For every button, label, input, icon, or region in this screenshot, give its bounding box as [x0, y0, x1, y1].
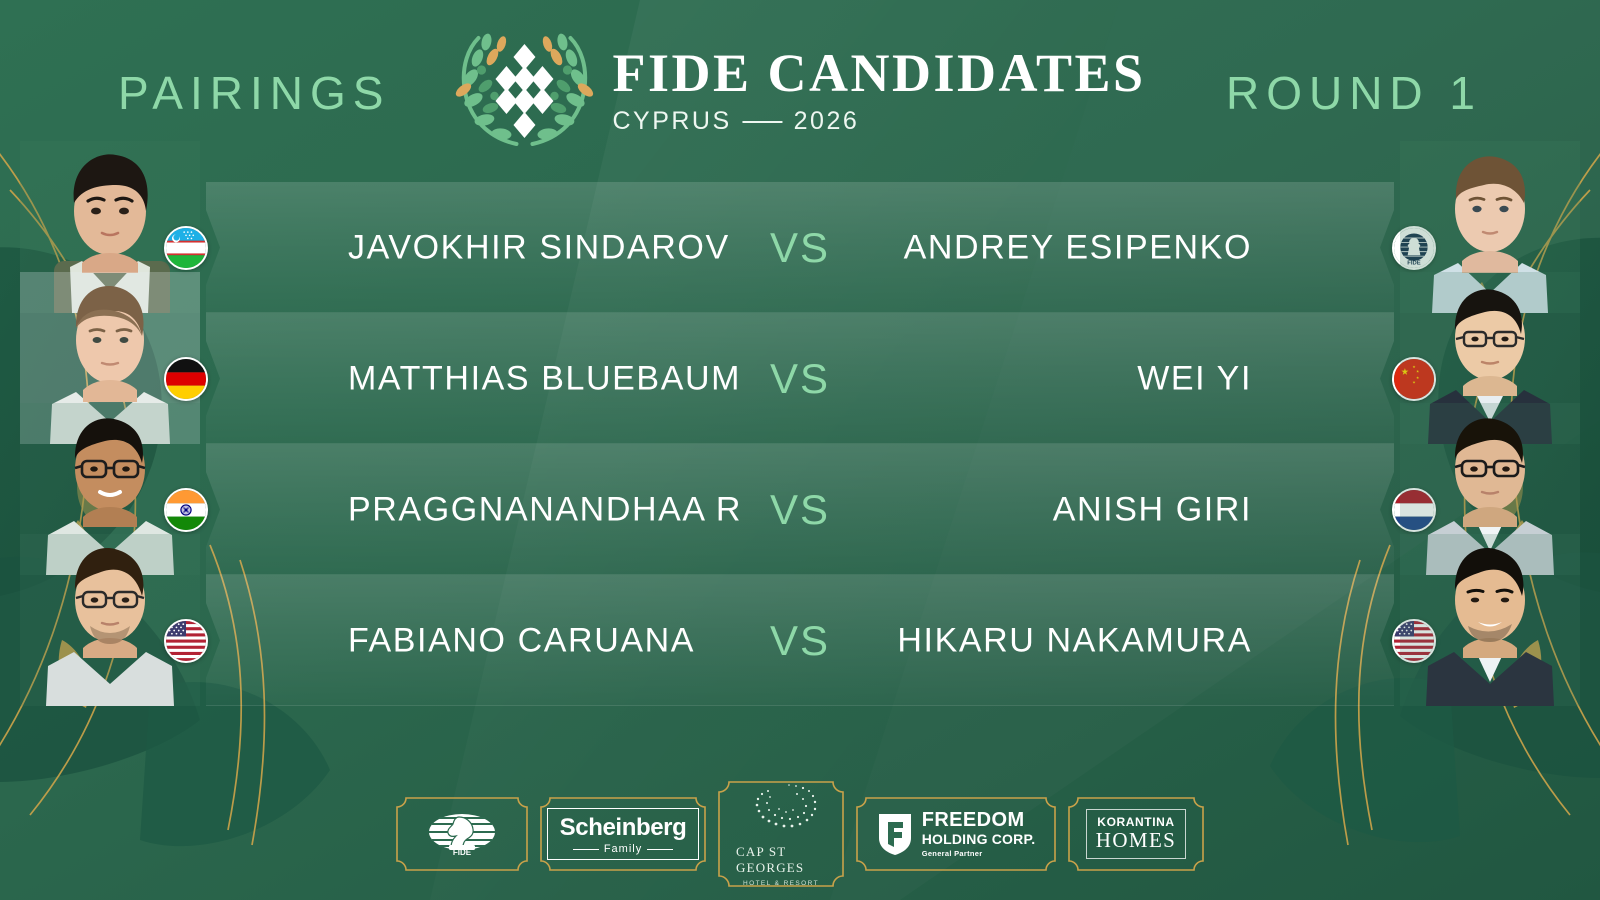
event-subtitle: CYPRUS 2026 [612, 107, 1145, 136]
vs-label: VS [770, 486, 830, 534]
vs-label: VS [770, 355, 830, 403]
sponsor-scheinberg-name: Scheinberg [560, 816, 687, 840]
player-name-black: HIKARU NAKAMURA [897, 621, 1252, 660]
germany-flag-icon [164, 357, 208, 401]
pairing-row[interactable]: JAVOKHIR SINDAROV VS ANDREY ESIPENKO FID… [206, 182, 1394, 313]
pairing-row[interactable]: PRAGGNANANDHAA R VS ANISH GIRI [206, 444, 1394, 575]
header: PAIRINGS [0, 0, 1600, 180]
sponsor-freedom-line1: FREEDOM [922, 810, 1036, 831]
rule-left [573, 849, 599, 850]
pairings-label: PAIRINGS [118, 66, 390, 120]
pairing-row[interactable]: FABIANO CARUANA VS HIKARU NAKAMURA [206, 575, 1394, 706]
sponsor-fide[interactable]: FIDE [396, 797, 528, 871]
player-name-black: ANDREY ESIPENKO [904, 228, 1252, 267]
sponsor-freedom[interactable]: FREEDOM HOLDING CORP. General Partner [856, 797, 1056, 871]
pairings-board: JAVOKHIR SINDAROV VS ANDREY ESIPENKO FID… [0, 182, 1600, 727]
korantina-logo: KORANTINA HOMES [1086, 809, 1187, 858]
player-name-white: MATTHIAS BLUEBAUM [348, 359, 741, 398]
player-name-black: WEI YI [1137, 359, 1252, 398]
dotted-arc-icon [741, 782, 821, 840]
sponsor-freedom-line2: HOLDING CORP. [922, 832, 1036, 847]
sponsor-cap-st-georges[interactable]: CAP ST GEORGES HOTEL & RESORT [718, 781, 844, 887]
sponsor-scheinberg-sub: Family [573, 843, 673, 855]
rule-right [647, 849, 673, 850]
sponsor-scheinberg[interactable]: Scheinberg Family [540, 797, 706, 871]
sponsor-freedom-line3: General Partner [922, 850, 1036, 858]
event-logo-block: FIDE CANDIDATES CYPRUS 2026 [454, 26, 1145, 152]
vs-label: VS [770, 224, 830, 272]
fide-knight-logo-icon: FIDE [425, 811, 499, 857]
freedom-shield-icon [877, 811, 913, 857]
scheinberg-logo: Scheinberg Family [547, 808, 700, 860]
event-year: 2026 [794, 107, 860, 136]
sponsor-bar: FIDE Scheinberg Family [0, 786, 1600, 882]
player-photo-caruana [20, 534, 200, 706]
sponsor-korantina-line2: HOMES [1096, 829, 1177, 851]
sponsor-cap-sub: HOTEL & RESORT [743, 880, 819, 887]
player-name-white: FABIANO CARUANA [348, 621, 695, 660]
subtitle-dash [743, 121, 783, 123]
usa-flag-icon [164, 619, 208, 663]
player-name-white: JAVOKHIR SINDAROV [348, 228, 730, 267]
sponsor-korantina[interactable]: KORANTINA HOMES [1068, 797, 1204, 871]
sponsor-korantina-line1: KORANTINA [1097, 815, 1174, 829]
player-name-white: PRAGGNANANDHAA R [348, 490, 742, 529]
pairing-row[interactable]: MATTHIAS BLUEBAUM VS WEI YI [206, 313, 1394, 444]
laurel-wreath-chess-diamond-icon [454, 26, 594, 152]
round-label: ROUND 1 [1226, 66, 1482, 120]
event-location: CYPRUS [612, 107, 731, 136]
india-flag-icon [164, 488, 208, 532]
player-photo-nakamura [1400, 534, 1580, 706]
uzbekistan-flag-icon [164, 226, 208, 270]
scheinberg-sub-text: Family [604, 843, 642, 855]
player-name-black: ANISH GIRI [1053, 490, 1252, 529]
event-title: FIDE CANDIDATES [612, 46, 1145, 101]
vs-label: VS [770, 617, 830, 665]
sponsor-fide-label: FIDE [453, 848, 472, 857]
sponsor-cap-name: CAP ST GEORGES [736, 844, 826, 876]
